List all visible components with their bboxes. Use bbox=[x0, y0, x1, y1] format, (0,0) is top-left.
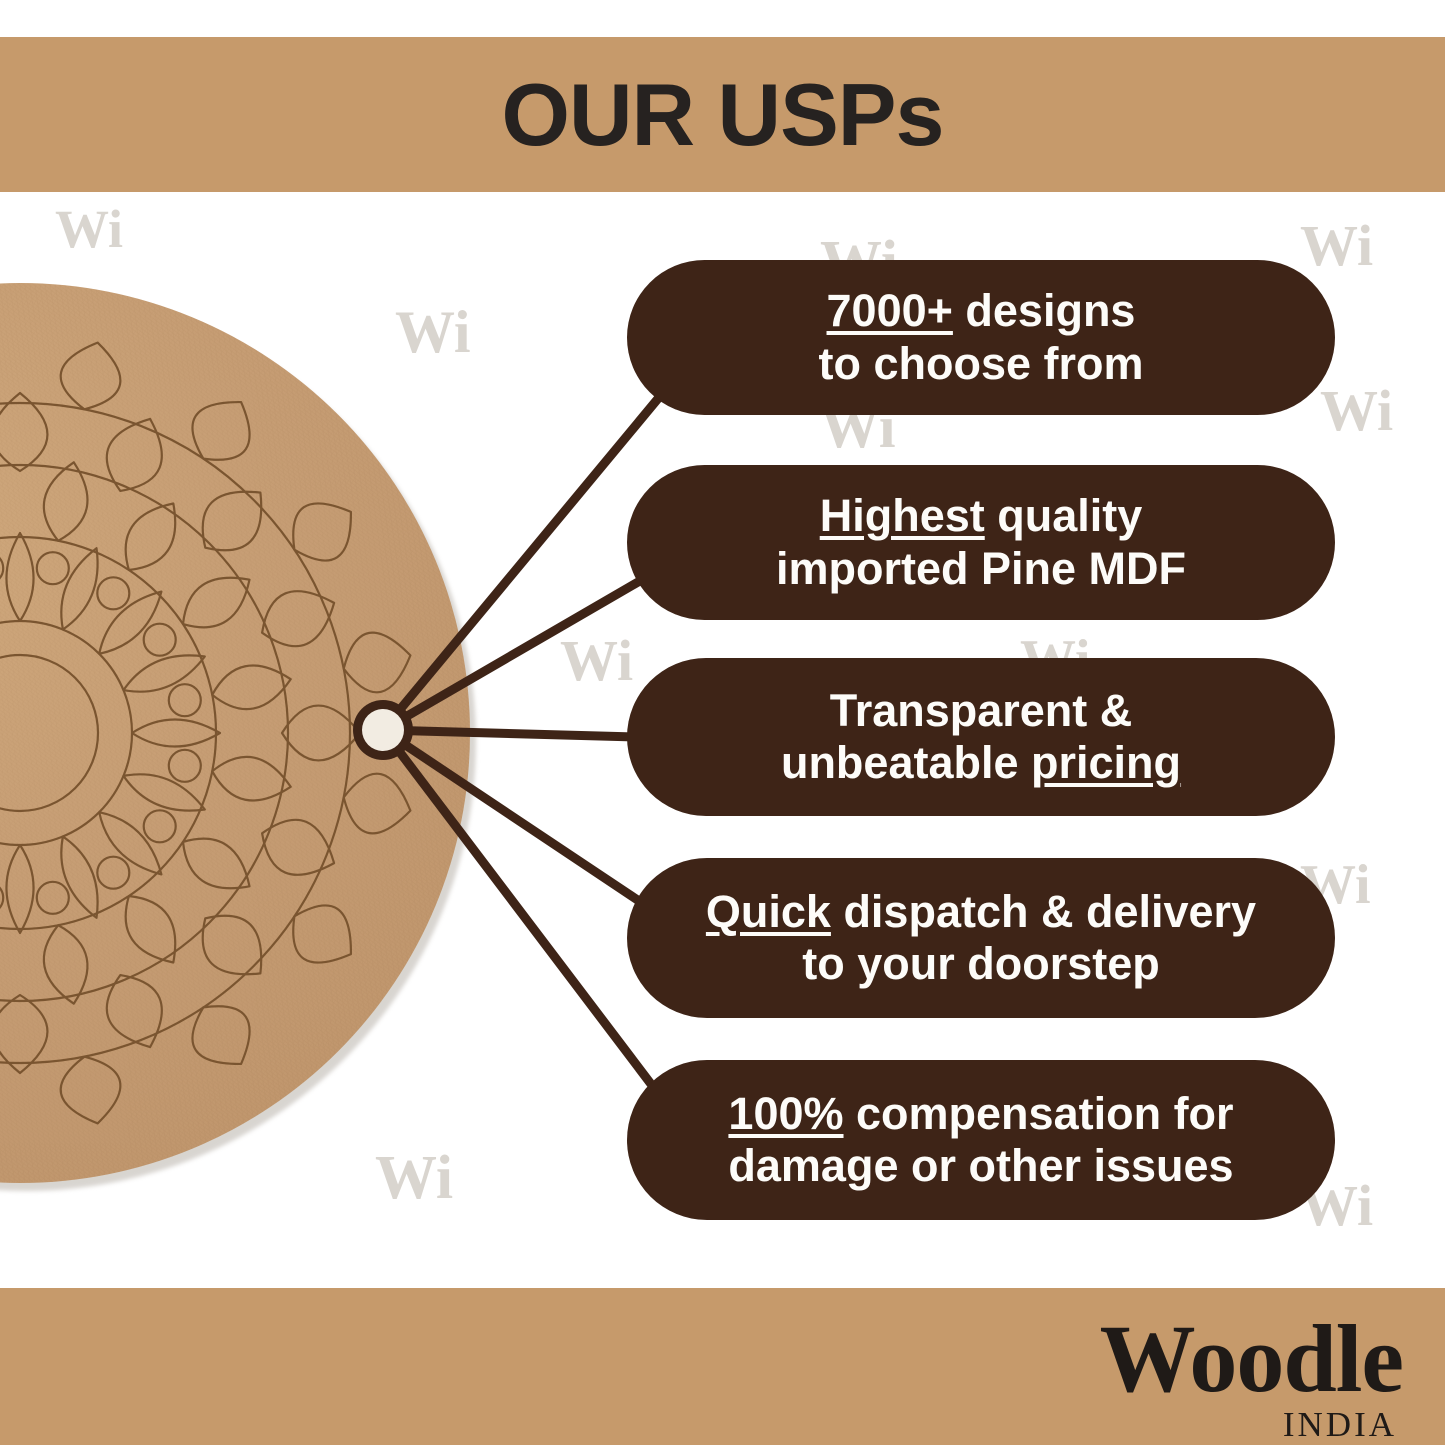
mandala-petal bbox=[183, 839, 250, 889]
usp-pill-pricing[interactable]: Transparent &unbeatable pricing bbox=[627, 658, 1335, 816]
usp-pill-text: 100% compensation fordamage or other iss… bbox=[728, 1088, 1233, 1192]
mandala-petal bbox=[107, 419, 162, 491]
mandala-dot bbox=[37, 552, 69, 584]
usp-pill-compensation[interactable]: 100% compensation fordamage or other iss… bbox=[627, 1060, 1335, 1220]
page-title: OUR USPs bbox=[0, 37, 1445, 192]
usp-pill-designs[interactable]: 7000+ designsto choose from bbox=[627, 260, 1335, 415]
brand-wordmark: Woodle bbox=[1003, 1312, 1403, 1406]
mandala-dot bbox=[169, 684, 201, 716]
mandala-petal bbox=[126, 896, 176, 963]
mandala-petal bbox=[192, 402, 249, 460]
mandala-petal bbox=[212, 666, 291, 710]
mandala-petal bbox=[293, 503, 351, 560]
watermark-wi: Wi bbox=[55, 202, 123, 256]
usp-pill-text: Highest qualityimported Pine MDF bbox=[776, 490, 1186, 594]
mandala-petal bbox=[203, 492, 262, 551]
mandala-petal bbox=[183, 578, 250, 628]
mandala-petal bbox=[107, 975, 162, 1047]
mandala-petal bbox=[293, 905, 351, 962]
mandala-petal bbox=[126, 504, 176, 571]
mandala-dot bbox=[97, 857, 129, 889]
mandala-dot bbox=[144, 624, 176, 656]
usp-pill-quality[interactable]: Highest qualityimported Pine MDF bbox=[627, 465, 1335, 620]
mandala-petal bbox=[99, 812, 161, 874]
usp-pill-dispatch[interactable]: Quick dispatch & deliveryto your doorste… bbox=[627, 858, 1335, 1018]
mdf-mandala-disc bbox=[0, 283, 470, 1183]
mandala-petal bbox=[212, 757, 291, 801]
mandala-petal bbox=[262, 820, 334, 875]
mandala-dot bbox=[144, 810, 176, 842]
brand-sub-label: INDIA bbox=[1003, 1408, 1397, 1442]
watermark-wi: Wi bbox=[1300, 217, 1373, 275]
mandala-petal bbox=[282, 706, 360, 761]
watermark-wi: Wi bbox=[560, 632, 633, 690]
mandala-petal bbox=[344, 633, 411, 693]
mandala-dot bbox=[97, 577, 129, 609]
mandala-petal bbox=[203, 916, 262, 975]
mandala-engraving bbox=[0, 283, 470, 1183]
mandala-petal bbox=[61, 343, 121, 410]
mandala-petal bbox=[262, 591, 334, 646]
mandala-petal bbox=[192, 1006, 249, 1064]
mandala-dot bbox=[0, 882, 3, 914]
mandala-petal bbox=[99, 592, 161, 654]
usp-pill-text: Quick dispatch & deliveryto your doorste… bbox=[706, 886, 1256, 990]
usp-pill-text: 7000+ designsto choose from bbox=[818, 285, 1143, 389]
mandala-petal bbox=[6, 845, 33, 933]
watermark-wi: Wi bbox=[1320, 382, 1393, 440]
mandala-petal bbox=[132, 719, 220, 746]
mandala-dot bbox=[0, 552, 3, 584]
mandala-petal bbox=[44, 462, 88, 541]
mandala-petal bbox=[61, 1057, 121, 1124]
mandala-petal bbox=[6, 533, 33, 621]
mandala-petal bbox=[344, 774, 411, 834]
infographic-canvas: OUR USPs WiWiWiWiWiWiWiWiWiWiWiWiWiWi bbox=[0, 0, 1445, 1445]
usp-pill-text: Transparent &unbeatable pricing bbox=[781, 685, 1181, 789]
brand-logo: Woodle INDIA bbox=[1003, 1312, 1403, 1438]
mandala-petal bbox=[44, 925, 88, 1004]
disc-body bbox=[0, 283, 470, 1183]
mandala-dot bbox=[169, 750, 201, 782]
mandala-dot bbox=[37, 882, 69, 914]
